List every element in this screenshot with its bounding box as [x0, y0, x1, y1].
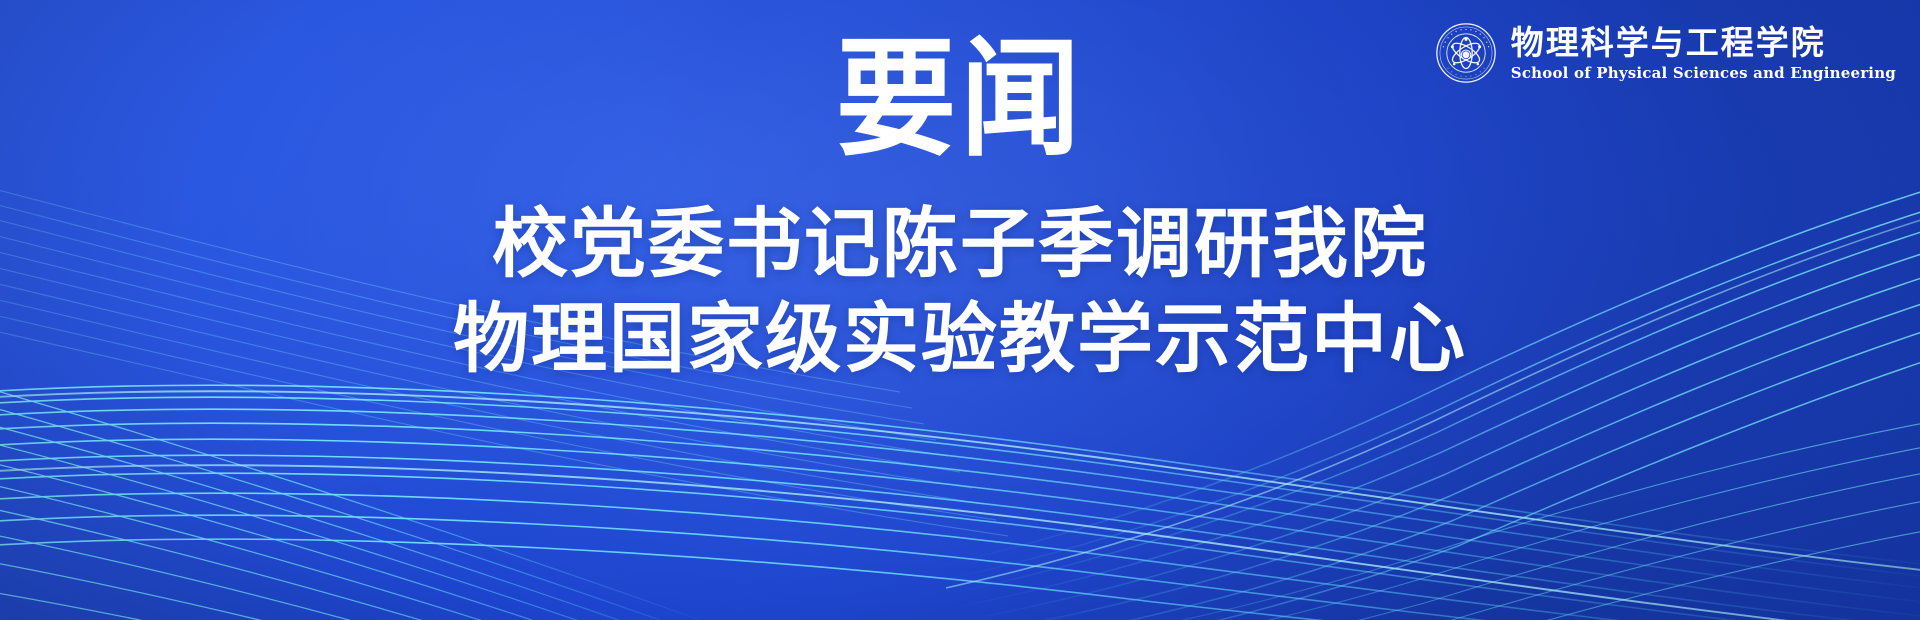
- news-banner: 要闻 校党委书记陈子季调研我院 物理国家级实验教学示范中心: [0, 0, 1920, 620]
- college-name-en: School of Physical Sciences and Engineer…: [1511, 64, 1896, 82]
- college-name-block: 物理科学与工程学院 School of Physical Sciences an…: [1511, 24, 1896, 82]
- atom-seal-icon: [1435, 22, 1497, 84]
- headline-text: 要闻: [836, 36, 1084, 164]
- title-line-1: 校党委书记陈子季调研我院: [0, 196, 1920, 291]
- page-title: 校党委书记陈子季调研我院 物理国家级实验教学示范中心: [0, 196, 1920, 386]
- college-identity: 物理科学与工程学院 School of Physical Sciences an…: [1435, 22, 1896, 84]
- title-line-2: 物理国家级实验教学示范中心: [0, 291, 1920, 386]
- college-name-cn: 物理科学与工程学院: [1511, 24, 1826, 62]
